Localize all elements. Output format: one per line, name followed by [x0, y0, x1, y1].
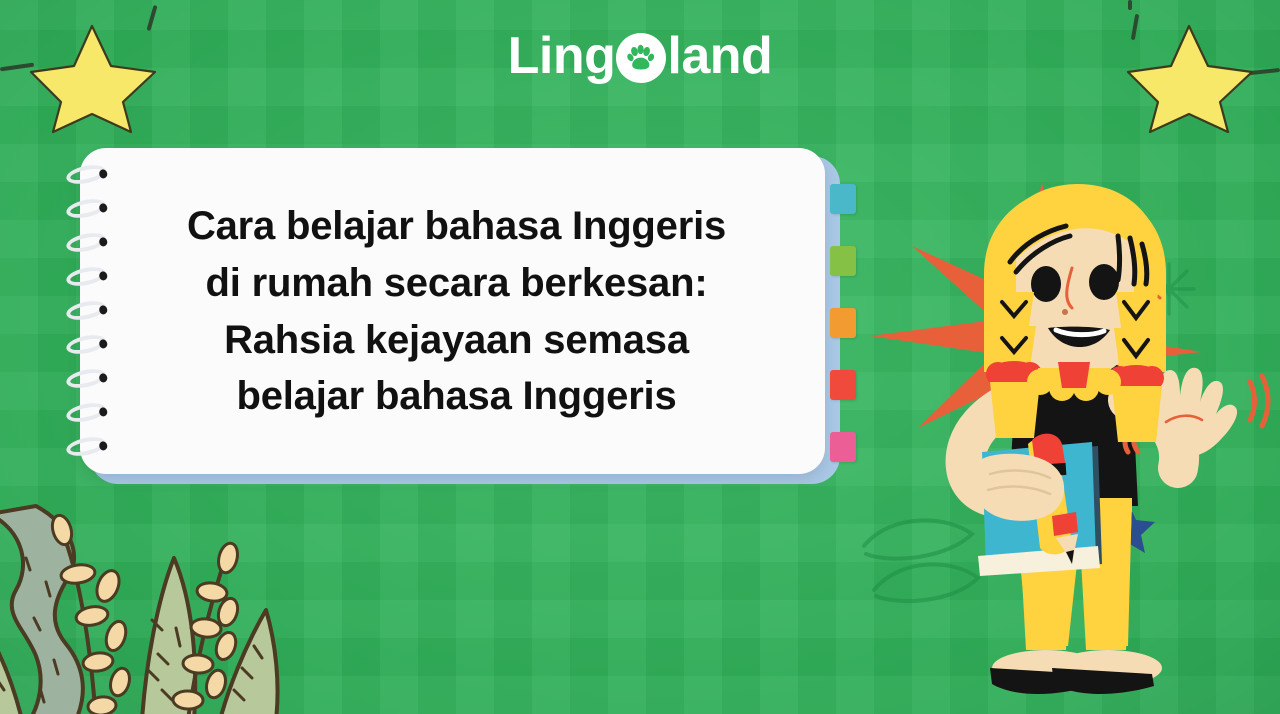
spiral-ring — [65, 332, 108, 357]
paw-print-icon — [616, 33, 666, 83]
eye-right — [1089, 264, 1119, 300]
tab-red[interactable] — [830, 370, 856, 400]
spiral-ring — [65, 434, 108, 459]
card-surface: Cara belajar bahasa Inggeris di rumah se… — [80, 148, 825, 474]
tab-green[interactable] — [830, 246, 856, 276]
waving-hand — [1153, 368, 1237, 457]
spiral-ring — [65, 366, 108, 391]
spiral-ring — [65, 298, 108, 323]
headline-note-card: Cara belajar bahasa Inggeris di rumah se… — [80, 148, 836, 478]
dash-mark — [1128, 0, 1132, 10]
logo-text-after: land — [667, 30, 772, 82]
brand-logo[interactable]: Ling land — [0, 30, 1280, 82]
leaves-and-berries-decoration — [0, 470, 340, 714]
card-index-tabs — [830, 184, 856, 444]
tab-teal[interactable] — [830, 184, 856, 214]
spiral-ring — [65, 264, 108, 289]
waving-girl-with-book — [866, 176, 1280, 714]
tab-orange[interactable] — [830, 308, 856, 338]
spiral-ring — [65, 230, 108, 255]
spiral-binding — [66, 166, 114, 462]
logo-text-before: Ling — [508, 30, 616, 82]
eye-left — [1031, 266, 1061, 302]
tab-pink[interactable] — [830, 432, 856, 462]
page-title: Cara belajar bahasa Inggeris di rumah se… — [128, 198, 785, 425]
spiral-ring — [65, 400, 108, 425]
spiral-ring — [65, 196, 108, 221]
spiral-ring — [65, 162, 108, 187]
slide-canvas: Ling land Cara belajar bahasa Inggeris d… — [0, 0, 1280, 714]
